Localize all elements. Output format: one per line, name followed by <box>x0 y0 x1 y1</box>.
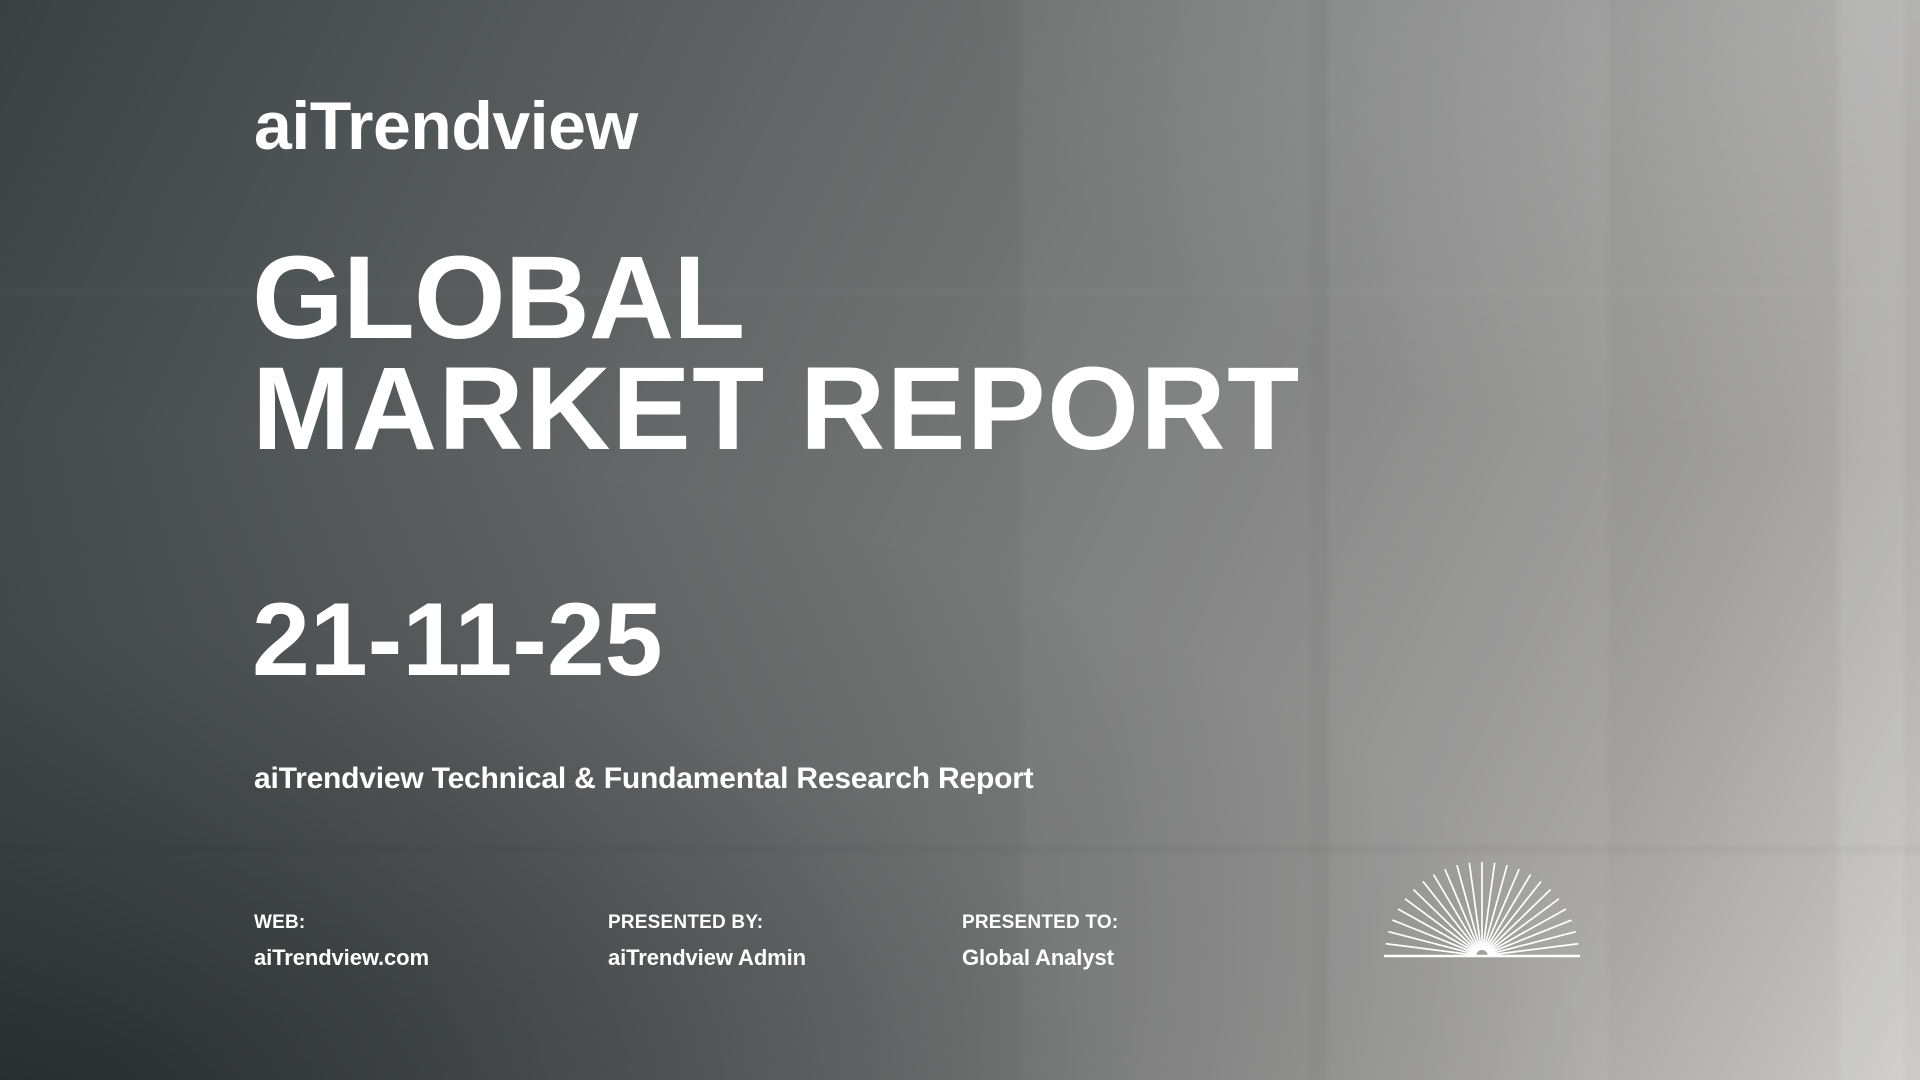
footer-value-web: aiTrendview.com <box>254 947 608 969</box>
footer-column-presented-by: PRESENTED BY: aiTrendview Admin <box>608 913 962 969</box>
footer-column-presented-to: PRESENTED TO: Global Analyst <box>962 913 1118 969</box>
footer-label-presented-by: PRESENTED BY: <box>608 913 962 932</box>
footer-value-presented-by: aiTrendview Admin <box>608 947 962 969</box>
report-subtitle: aiTrendview Technical & Fundamental Rese… <box>254 764 1033 794</box>
footer-label-web: WEB: <box>254 913 608 932</box>
title-line-1: GLOBAL <box>252 243 1301 354</box>
brand-wordmark: aiTrendview <box>254 92 638 160</box>
page-title: GLOBAL MARKET REPORT <box>252 243 1301 465</box>
footer-column-web: WEB: aiTrendview.com <box>254 913 608 969</box>
slide-content: aiTrendview GLOBAL MARKET REPORT 21-11-2… <box>0 0 1920 1080</box>
footer-label-presented-to: PRESENTED TO: <box>962 913 1118 932</box>
footer-value-presented-to: Global Analyst <box>962 947 1118 969</box>
footer-meta: WEB: aiTrendview.com PRESENTED BY: aiTre… <box>254 913 1118 969</box>
report-cover-slide: aiTrendview GLOBAL MARKET REPORT 21-11-2… <box>0 0 1920 1080</box>
sunburst-icon <box>1382 857 1582 961</box>
report-date: 21-11-25 <box>252 588 663 692</box>
title-line-2: MARKET REPORT <box>252 354 1301 465</box>
